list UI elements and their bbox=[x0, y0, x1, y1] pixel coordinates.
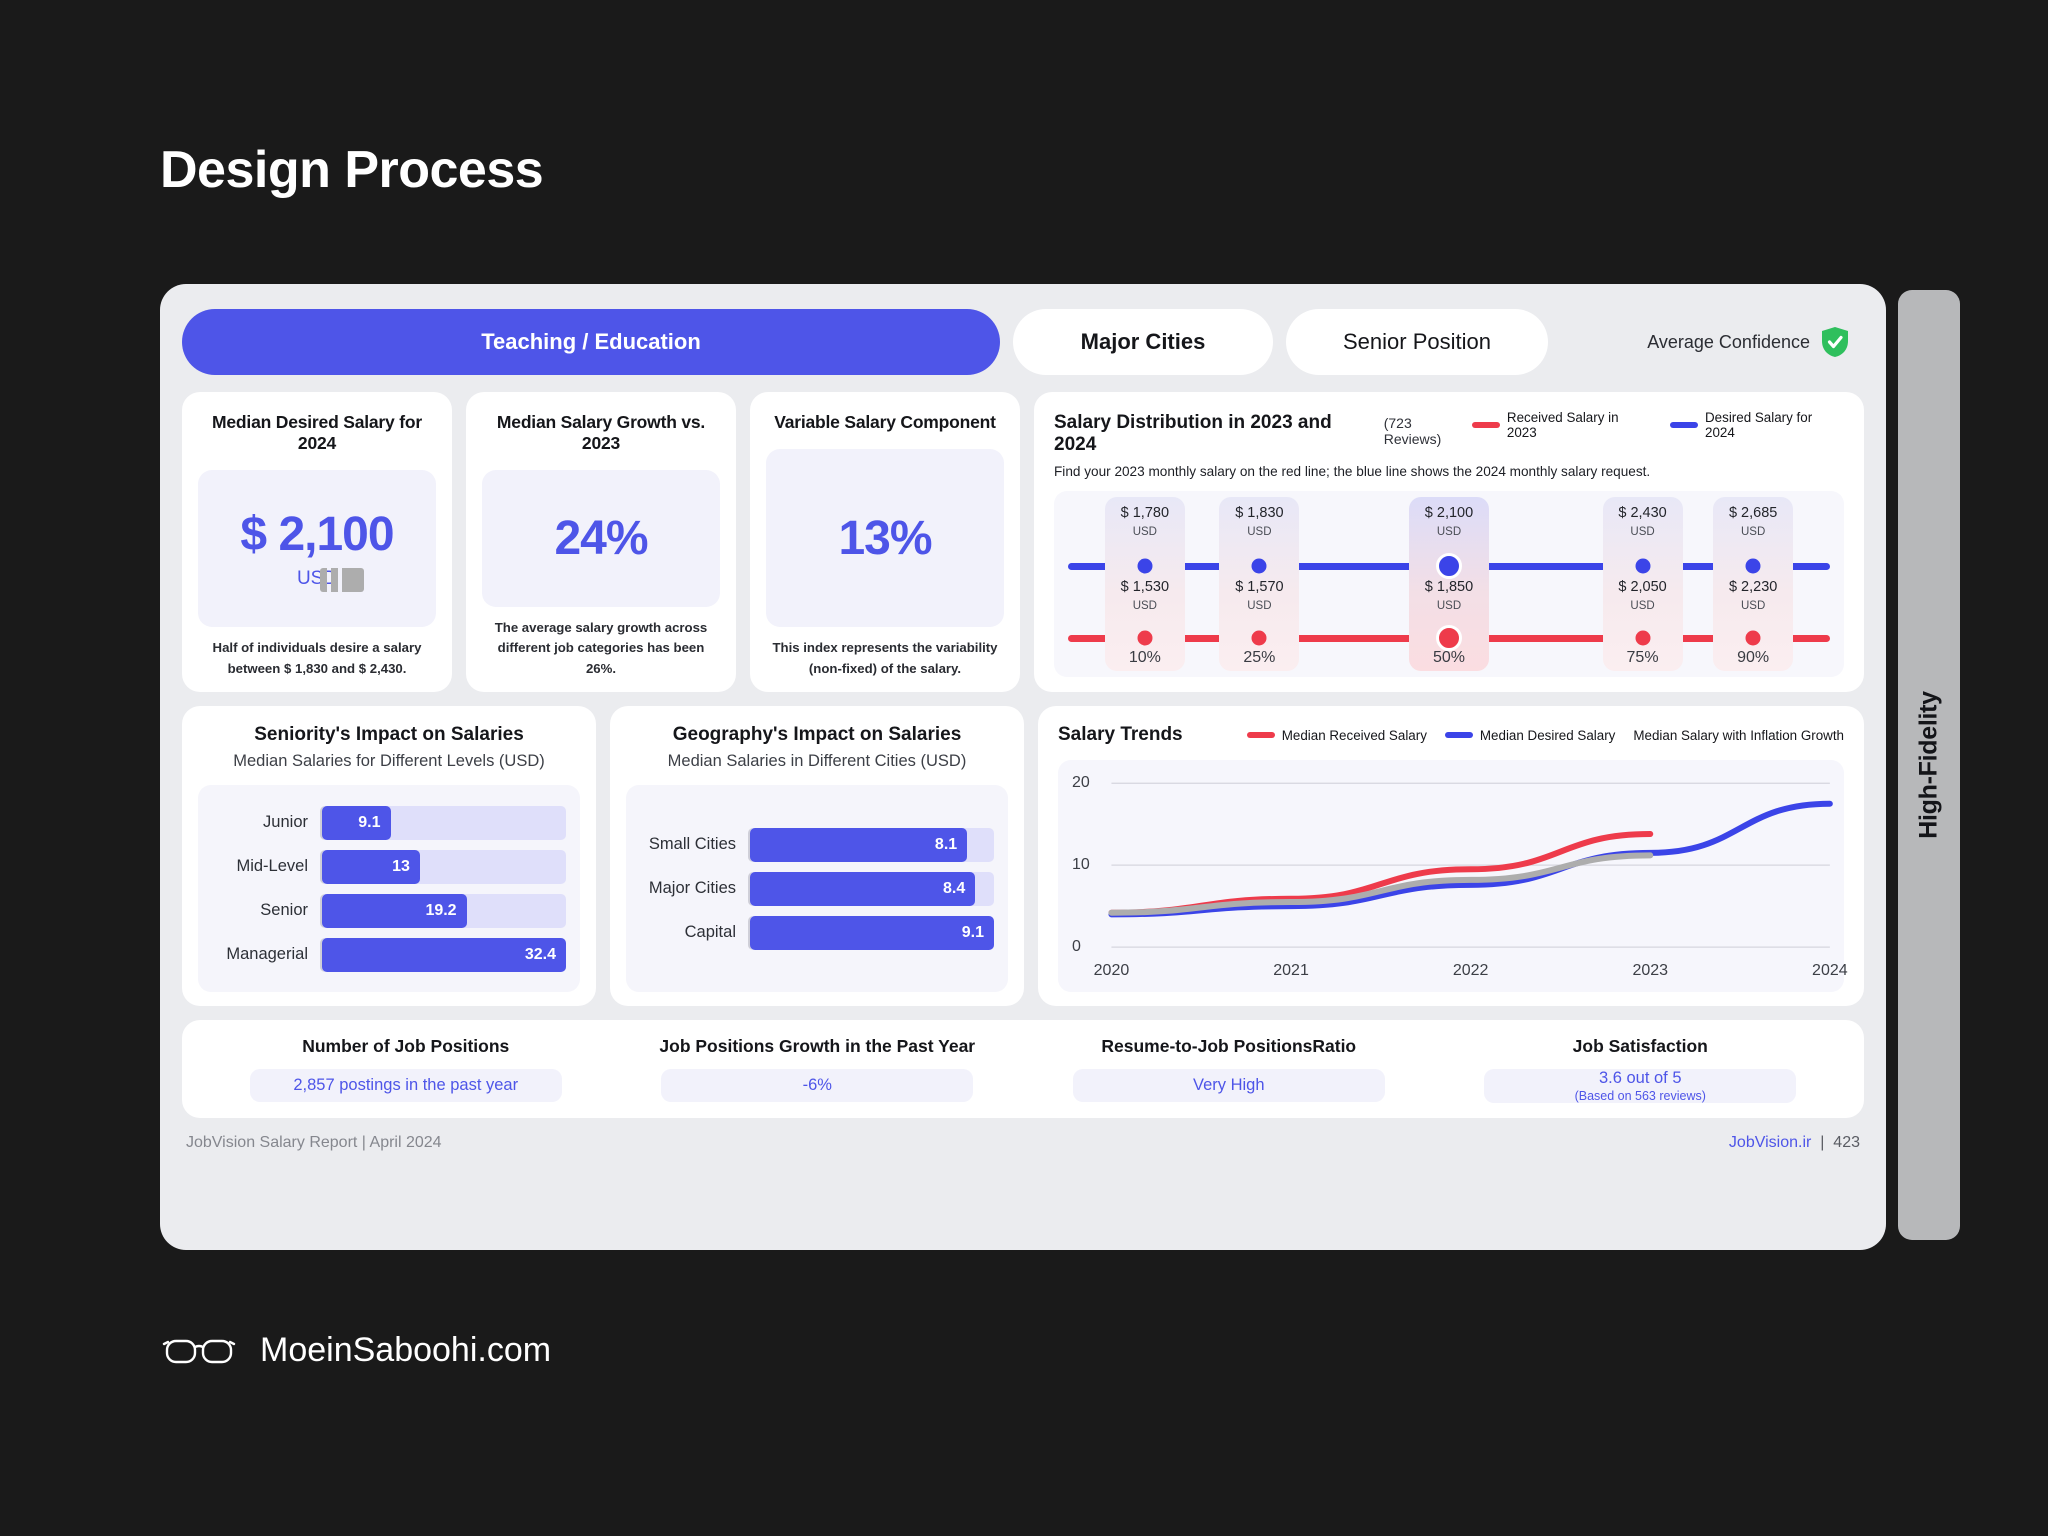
footer-page-number: 423 bbox=[1833, 1134, 1860, 1151]
kpi-value: $ 2,100 bbox=[240, 507, 393, 562]
percentile-label: 25% bbox=[1243, 649, 1275, 667]
kpi-note: This index represents the variability (n… bbox=[766, 627, 1004, 692]
footer-site-page: JobVision.ir | 423 bbox=[1729, 1134, 1860, 1152]
legend-swatch-blue-icon bbox=[1670, 422, 1698, 428]
desired-salary-marker bbox=[1746, 559, 1761, 574]
salary-trends-svg bbox=[1058, 760, 1844, 992]
desired-salary-value: $ 1,780 bbox=[1121, 505, 1169, 521]
kpi-title: Variable Salary Component bbox=[766, 412, 1004, 433]
bar-track: 9.1 bbox=[748, 916, 994, 950]
legend-swatch-blue-icon bbox=[1445, 732, 1473, 738]
salary-distribution-reviews: (723 Reviews) bbox=[1384, 415, 1473, 447]
desired-salary-label: $ 2,430USD bbox=[1618, 505, 1666, 539]
currency-unit: USD bbox=[1235, 525, 1283, 539]
page-title: Design Process bbox=[160, 140, 543, 200]
legend-label: Median Received Salary bbox=[1282, 728, 1427, 743]
seniority-chart-title: Seniority's Impact on Salaries bbox=[198, 724, 580, 746]
bar-track: 32.4 bbox=[320, 938, 566, 972]
desired-salary-marker bbox=[1137, 559, 1152, 574]
currency-unit: USD bbox=[1729, 599, 1777, 613]
desired-salary-marker bbox=[1436, 553, 1462, 579]
salary-trends-plot: 0102020202021202220232024 bbox=[1058, 760, 1844, 992]
seniority-chart-plot: Junior9.1Mid-Level13Senior19.2Managerial… bbox=[198, 785, 580, 992]
currency-unit: USD bbox=[1425, 525, 1473, 539]
legend-item-desired-2024: Desired Salary for 2024 bbox=[1670, 410, 1844, 440]
legend-label: Desired Salary for 2024 bbox=[1705, 410, 1844, 440]
geography-chart-card: Geography's Impact on Salaries Median Sa… bbox=[610, 706, 1024, 1006]
bar-fill: 9.1 bbox=[750, 916, 994, 950]
seniority-chart-card: Seniority's Impact on Salaries Median Sa… bbox=[182, 706, 596, 1006]
stat-value: Very High bbox=[1193, 1076, 1265, 1095]
summary-stats-row: Number of Job Positions 2,857 postings i… bbox=[182, 1020, 1864, 1118]
stat-resume-to-job-ratio: Resume-to-Job PositionsRatio Very High bbox=[1023, 1036, 1435, 1102]
bar-category-label: Senior bbox=[212, 901, 320, 920]
legend-label: Median Salary with Inflation Growth bbox=[1633, 728, 1844, 743]
stat-pill: 2,857 postings in the past year bbox=[250, 1069, 562, 1102]
salary-trends-card: Salary Trends Median Received Salary Med… bbox=[1038, 706, 1864, 1006]
kpi-value-box: $ 2,100 USD bbox=[198, 470, 436, 627]
received-salary-label: $ 1,850USD bbox=[1425, 579, 1473, 613]
bar-fill: 8.4 bbox=[750, 872, 975, 906]
legend-item-received-2023: Received Salary in 2023 bbox=[1472, 410, 1650, 440]
salary-trends-title: Salary Trends bbox=[1058, 724, 1183, 746]
kpi-row: Median Desired Salary for 2024 $ 2,100 U… bbox=[182, 392, 1864, 692]
legend-swatch-dashed-gray-icon bbox=[320, 568, 364, 592]
fidelity-rail: High-Fidelity bbox=[1898, 290, 1960, 1240]
received-salary-marker bbox=[1436, 625, 1462, 651]
x-axis-tick: 2020 bbox=[1094, 962, 1130, 980]
currency-unit: USD bbox=[1425, 599, 1473, 613]
trend-line bbox=[1111, 834, 1650, 913]
bar-category-label: Small Cities bbox=[640, 835, 748, 854]
desired-salary-label: $ 2,100USD bbox=[1425, 505, 1473, 539]
kpi-card-median-desired-salary: Median Desired Salary for 2024 $ 2,100 U… bbox=[182, 392, 452, 692]
trend-line bbox=[1111, 804, 1829, 915]
stat-pill: -6% bbox=[661, 1069, 973, 1102]
slide-canvas: Design Process Teaching / Education Majo… bbox=[0, 0, 2048, 1536]
bar-category-label: Managerial bbox=[212, 945, 320, 964]
footer-report-label: JobVision Salary Report | April 2024 bbox=[186, 1134, 442, 1152]
stat-pill: 3.6 out of 5 (Based on 563 reviews) bbox=[1484, 1069, 1796, 1103]
received-salary-value: $ 1,850 bbox=[1425, 579, 1473, 595]
legend-swatch-red-icon bbox=[1247, 732, 1275, 738]
kpi-note: Half of individuals desire a salary betw… bbox=[198, 627, 436, 692]
bar-fill: 13 bbox=[322, 850, 420, 884]
kpi-title: Median Desired Salary for 2024 bbox=[198, 412, 436, 454]
legend-label: Received Salary in 2023 bbox=[1507, 410, 1650, 440]
received-salary-label: $ 1,570USD bbox=[1235, 579, 1283, 613]
legend-swatch-red-icon bbox=[1472, 422, 1500, 428]
x-axis-tick: 2024 bbox=[1812, 962, 1848, 980]
y-axis-tick: 20 bbox=[1072, 774, 1090, 792]
bar-track: 8.4 bbox=[748, 872, 994, 906]
brand-footer: MoeinSaboohi.com bbox=[160, 1330, 551, 1370]
kpi-card-variable-salary-component: Variable Salary Component 13% This index… bbox=[750, 392, 1020, 692]
footer-separator: | bbox=[1816, 1134, 1829, 1151]
stat-value: 3.6 out of 5 bbox=[1599, 1069, 1682, 1088]
brand-name: MoeinSaboohi.com bbox=[260, 1331, 551, 1370]
legend-label: Median Desired Salary bbox=[1480, 728, 1615, 743]
y-axis-tick: 10 bbox=[1072, 856, 1090, 874]
bar-category-label: Junior bbox=[212, 813, 320, 832]
bar-row: Junior9.1 bbox=[212, 806, 566, 840]
bar-row: Small Cities8.1 bbox=[640, 828, 994, 862]
seniority-chart-subtitle: Median Salaries for Different Levels (US… bbox=[198, 752, 580, 771]
received-salary-marker bbox=[1252, 631, 1267, 646]
glasses-icon bbox=[160, 1330, 238, 1370]
geography-chart-plot: Small Cities8.1Major Cities8.4Capital9.1 bbox=[626, 785, 1008, 992]
desired-salary-label: $ 2,685USD bbox=[1729, 505, 1777, 539]
bar-track: 13 bbox=[320, 850, 566, 884]
stat-job-satisfaction: Job Satisfaction 3.6 out of 5 (Based on … bbox=[1435, 1036, 1847, 1102]
bar-category-label: Capital bbox=[640, 923, 748, 942]
stat-subvalue: (Based on 563 reviews) bbox=[1575, 1089, 1706, 1103]
salary-distribution-card: Salary Distribution in 2023 and 2024 (72… bbox=[1034, 392, 1864, 692]
footer-site-link[interactable]: JobVision.ir bbox=[1729, 1134, 1811, 1151]
currency-unit: USD bbox=[1121, 599, 1169, 613]
desired-salary-value: $ 2,430 bbox=[1618, 505, 1666, 521]
bar-category-label: Major Cities bbox=[640, 879, 748, 898]
legend-item-median-desired: Median Desired Salary bbox=[1445, 728, 1615, 743]
received-salary-marker bbox=[1746, 631, 1761, 646]
bar-row: Mid-Level13 bbox=[212, 850, 566, 884]
received-salary-value: $ 1,570 bbox=[1235, 579, 1283, 595]
geography-chart-title: Geography's Impact on Salaries bbox=[626, 724, 1008, 746]
bar-row: Managerial32.4 bbox=[212, 938, 566, 972]
bar-fill: 32.4 bbox=[322, 938, 566, 972]
percentile-label: 75% bbox=[1627, 649, 1659, 667]
shield-check-icon bbox=[1820, 326, 1850, 358]
bar-category-label: Mid-Level bbox=[212, 857, 320, 876]
desired-salary-label: $ 1,780USD bbox=[1121, 505, 1169, 539]
currency-unit: USD bbox=[1235, 599, 1283, 613]
tab-bar: Teaching / Education Major Cities Senior… bbox=[182, 308, 1864, 376]
desired-salary-value: $ 1,830 bbox=[1235, 505, 1283, 521]
stat-value: 2,857 postings in the past year bbox=[293, 1076, 518, 1095]
tab-major-cities[interactable]: Major Cities bbox=[1013, 309, 1273, 375]
currency-unit: USD bbox=[1618, 599, 1666, 613]
kpi-card-median-salary-growth: Median Salary Growth vs. 2023 24% The av… bbox=[466, 392, 736, 692]
bar-track: 9.1 bbox=[320, 806, 566, 840]
stat-title: Resume-to-Job PositionsRatio bbox=[1101, 1036, 1356, 1057]
received-salary-label: $ 1,530USD bbox=[1121, 579, 1169, 613]
salary-distribution-legend: Received Salary in 2023 Desired Salary f… bbox=[1472, 410, 1844, 440]
received-salary-marker bbox=[1137, 631, 1152, 646]
desired-salary-value: $ 2,100 bbox=[1425, 505, 1473, 521]
dashboard-footer: JobVision Salary Report | April 2024 Job… bbox=[182, 1134, 1864, 1152]
salary-trends-legend: Median Received Salary Median Desired Sa… bbox=[1247, 728, 1844, 743]
x-axis-tick: 2021 bbox=[1273, 962, 1309, 980]
received-salary-value: $ 1,530 bbox=[1121, 579, 1169, 595]
bar-row: Major Cities8.4 bbox=[640, 872, 994, 906]
salary-distribution-title: Salary Distribution in 2023 and 2024 bbox=[1054, 412, 1376, 456]
geography-chart-subtitle: Median Salaries in Different Cities (USD… bbox=[626, 752, 1008, 771]
bar-row: Senior19.2 bbox=[212, 894, 566, 928]
stat-pill: Very High bbox=[1073, 1069, 1385, 1102]
bar-fill: 8.1 bbox=[750, 828, 967, 862]
desired-salary-label: $ 1,830USD bbox=[1235, 505, 1283, 539]
tab-senior-position[interactable]: Senior Position bbox=[1286, 309, 1548, 375]
kpi-title: Median Salary Growth vs. 2023 bbox=[482, 412, 720, 454]
received-salary-label: $ 2,230USD bbox=[1729, 579, 1777, 613]
legend-item-median-received: Median Received Salary bbox=[1247, 728, 1427, 743]
kpi-note: The average salary growth across differe… bbox=[482, 607, 720, 692]
currency-unit: USD bbox=[1121, 525, 1169, 539]
percentile-label: 10% bbox=[1129, 649, 1161, 667]
desired-salary-marker bbox=[1635, 559, 1650, 574]
bar-fill: 9.1 bbox=[322, 806, 391, 840]
stat-value: -6% bbox=[803, 1076, 832, 1095]
received-salary-value: $ 2,230 bbox=[1729, 579, 1777, 595]
desired-salary-value: $ 2,685 bbox=[1729, 505, 1777, 521]
salary-distribution-header: Salary Distribution in 2023 and 2024 (72… bbox=[1054, 410, 1844, 456]
salary-distribution-plot: $ 1,780USD$ 1,530USD10%$ 1,830USD$ 1,570… bbox=[1054, 491, 1844, 677]
dashboard-panel: Teaching / Education Major Cities Senior… bbox=[160, 284, 1886, 1250]
stat-job-positions-growth: Job Positions Growth in the Past Year -6… bbox=[612, 1036, 1024, 1102]
stat-title: Job Positions Growth in the Past Year bbox=[659, 1036, 975, 1057]
fidelity-rail-label: High-Fidelity bbox=[1915, 691, 1944, 838]
percentile-label: 90% bbox=[1737, 649, 1769, 667]
x-axis-tick: 2023 bbox=[1632, 962, 1668, 980]
received-salary-label: $ 2,050USD bbox=[1618, 579, 1666, 613]
legend-item-inflation-growth: Median Salary with Inflation Growth bbox=[1633, 728, 1844, 743]
received-salary-marker bbox=[1635, 631, 1650, 646]
kpi-value-box: 24% bbox=[482, 470, 720, 607]
currency-unit: USD bbox=[1729, 525, 1777, 539]
kpi-value-box: 13% bbox=[766, 449, 1004, 627]
bar-track: 19.2 bbox=[320, 894, 566, 928]
bar-row: Capital9.1 bbox=[640, 916, 994, 950]
average-confidence: Average Confidence bbox=[1647, 326, 1864, 358]
percentile-label: 50% bbox=[1433, 649, 1465, 667]
desired-salary-marker bbox=[1252, 559, 1267, 574]
average-confidence-label: Average Confidence bbox=[1647, 332, 1810, 353]
kpi-value: 13% bbox=[838, 511, 931, 566]
currency-unit: USD bbox=[1618, 525, 1666, 539]
salary-trends-header: Salary Trends Median Received Salary Med… bbox=[1058, 724, 1844, 746]
stat-title: Job Satisfaction bbox=[1573, 1036, 1708, 1057]
stat-number-of-job-positions: Number of Job Positions 2,857 postings i… bbox=[200, 1036, 612, 1102]
stat-title: Number of Job Positions bbox=[302, 1036, 509, 1057]
tab-teaching-education[interactable]: Teaching / Education bbox=[182, 309, 1000, 375]
kpi-value: 24% bbox=[554, 511, 647, 566]
charts-row: Seniority's Impact on Salaries Median Sa… bbox=[182, 706, 1864, 1006]
received-salary-value: $ 2,050 bbox=[1618, 579, 1666, 595]
x-axis-tick: 2022 bbox=[1453, 962, 1489, 980]
y-axis-tick: 0 bbox=[1072, 938, 1081, 956]
bar-track: 8.1 bbox=[748, 828, 994, 862]
bar-fill: 19.2 bbox=[322, 894, 467, 928]
salary-distribution-subtitle: Find your 2023 monthly salary on the red… bbox=[1054, 464, 1844, 479]
